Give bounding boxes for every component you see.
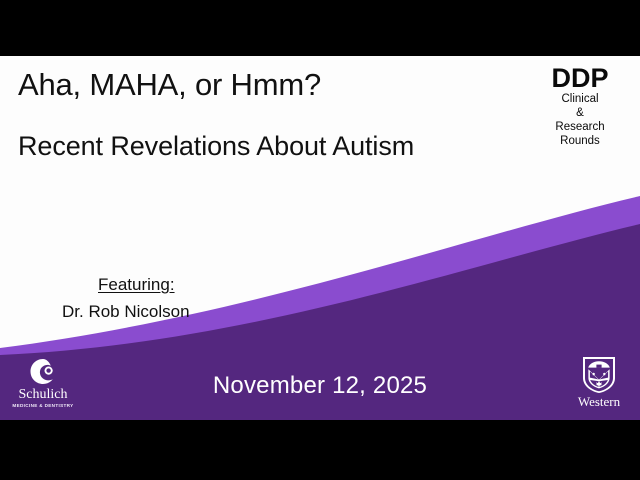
schulich-wordmark: Schulich: [6, 387, 80, 402]
ddp-subtitle-line-1: Clinical: [532, 92, 628, 106]
ddp-subtitle-line-3: Research: [532, 120, 628, 134]
ddp-acronym: DDP: [532, 64, 628, 92]
ddp-subtitle-line-2: &: [532, 106, 628, 120]
ddp-subtitle-line-4: Rounds: [532, 134, 628, 148]
schulich-logo: Schulich MEDICINE & DENTISTRY: [6, 358, 80, 409]
title-block: Aha, MAHA, or Hmm? Recent Revelations Ab…: [18, 66, 488, 163]
letterbox-bar-top: [0, 0, 640, 56]
presenter-name: Dr. Rob Nicolson: [62, 301, 190, 323]
featuring-label: Featuring:: [98, 274, 190, 296]
western-wordmark: Western: [568, 395, 630, 409]
page-title: Aha, MAHA, or Hmm?: [18, 66, 488, 104]
schulich-tagline: MEDICINE & DENTISTRY: [6, 402, 80, 409]
schulich-emblem-icon: [6, 358, 80, 386]
video-player-stage: Aha, MAHA, or Hmm? Recent Revelations Ab…: [0, 0, 640, 480]
page-subtitle: Recent Revelations About Autism: [18, 130, 448, 163]
featuring-block: Featuring: Dr. Rob Nicolson: [62, 274, 190, 323]
presentation-slide: Aha, MAHA, or Hmm? Recent Revelations Ab…: [0, 56, 640, 420]
western-shield-icon: [581, 356, 617, 394]
letterbox-bar-bottom: [0, 420, 640, 480]
ddp-logo: DDP Clinical & Research Rounds: [532, 64, 628, 148]
event-date: November 12, 2025: [0, 372, 640, 400]
western-logo: Western: [568, 356, 630, 409]
